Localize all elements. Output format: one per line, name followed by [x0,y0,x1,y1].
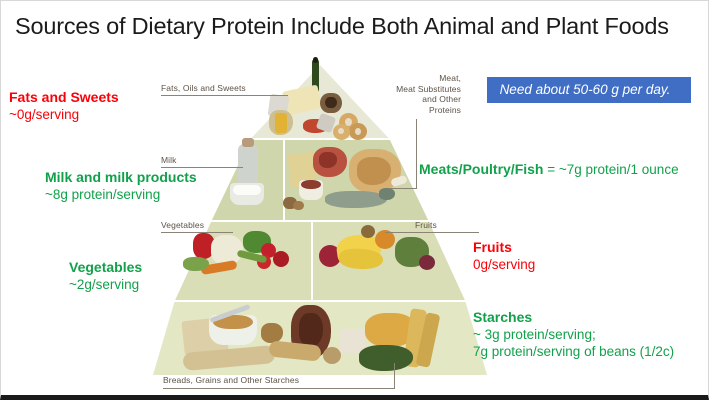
pyramid-leader-meat-h [389,188,417,189]
annotation-meats-heading: Meats/Poultry/Fish [419,161,543,177]
pyramid-label-meat-group: Meat, Meat Substitutes and Other Protein… [371,73,461,115]
food-tomato-2 [273,251,289,267]
food-milk-bottle-cap [242,138,254,147]
pyramid-leader-milk [161,167,243,168]
pyramid-label-vegetables: Vegetables [161,220,204,230]
food-fish-tail [379,188,395,200]
meat-line-3: and Other [422,94,461,104]
pyramid-label-milk: Milk [161,155,177,165]
annotation-starches-heading: Starches [473,309,674,326]
annotation-vegetables-heading: Vegetables [69,259,142,276]
callout-daily-protein: Need about 50-60 g per day. [479,77,691,103]
food-green-noodles [359,345,413,371]
page-title: Sources of Dietary Protein Include Both … [15,13,705,40]
food-yogurt-milk [233,185,261,195]
annotation-fruits-heading: Fruits [473,239,535,256]
food-greens [183,257,209,271]
annotation-fruits: Fruits 0g/serving [473,239,535,273]
food-roll [261,323,283,343]
annotation-vegetables: Vegetables ~2g/serving [69,259,142,293]
annotation-starches: Starches ~ 3g protein/serving; 7g protei… [473,309,674,360]
pyramid-leader-fruits [385,232,479,233]
annotation-fruits-detail: 0g/serving [473,256,535,273]
pyramid-leader-meat-v [416,119,417,189]
annotation-starches-detail: ~ 3g protein/serving; [473,326,674,343]
annotation-meats-detail: = ~7g protein/1 ounce [543,162,678,177]
annotation-fats-heading: Fats and Sweets [9,89,119,106]
food-beans [301,180,321,189]
pyramid-label-fruits: Fruits [415,220,437,230]
food-oil-bottle-cap [313,57,318,63]
annotation-meats-poultry-fish: Meats/Poultry/Fish = ~7g protein/1 ounce [419,161,679,179]
pyramid-divider-veg-fruit [311,221,313,300]
food-oil-jug-liquid [275,113,287,133]
pyramid-label-fats-oils-sweets: Fats, Oils and Sweets [161,83,246,93]
annotation-vegetables-detail: ~2g/serving [69,276,142,293]
food-kiwi [361,225,375,238]
annotation-milk-detail: ~8g protein/serving [45,186,197,203]
food-bagel-2-hole [355,128,361,135]
food-raw-meat-dark [319,152,337,168]
pyramid-divider-2 [210,220,430,222]
annotation-starches-detail2: 7g protein/serving of beans (1/2c) [473,343,674,360]
pyramid-leader-fats [161,95,288,96]
food-fish [325,191,387,208]
food-guide-pyramid-image: Fats, Oils and Sweets Milk Meat, Meat Su… [153,57,487,395]
meat-line-2: Meat Substitutes [396,84,461,94]
pyramid-label-breads: Breads, Grains and Other Starches [163,375,299,385]
food-plum [419,255,435,270]
food-beans-pile-dark [299,313,323,347]
annotation-fats-detail: ~0g/serving [9,106,119,123]
pyramid-leader-breads-h [163,388,395,389]
annotation-milk-heading: Milk and milk products [45,169,197,186]
pyramid-leader-breads-v [394,363,395,389]
pyramid-divider-1 [246,138,394,140]
meat-line-1: Meat, [439,73,461,83]
food-chocolate-center [325,97,337,108]
pyramid-leader-vegetables [161,232,233,233]
meat-line-4: Proteins [429,105,461,115]
slide-canvas: Sources of Dietary Protein Include Both … [0,0,709,400]
pyramid-divider-3 [173,300,467,302]
food-bagel-3-hole [338,128,344,134]
annotation-fats-and-sweets: Fats and Sweets ~0g/serving [9,89,119,123]
food-chicken-shading [357,157,391,185]
annotation-milk-and-milk-products: Milk and milk products ~8g protein/servi… [45,169,197,203]
food-nuts-2 [293,201,304,210]
